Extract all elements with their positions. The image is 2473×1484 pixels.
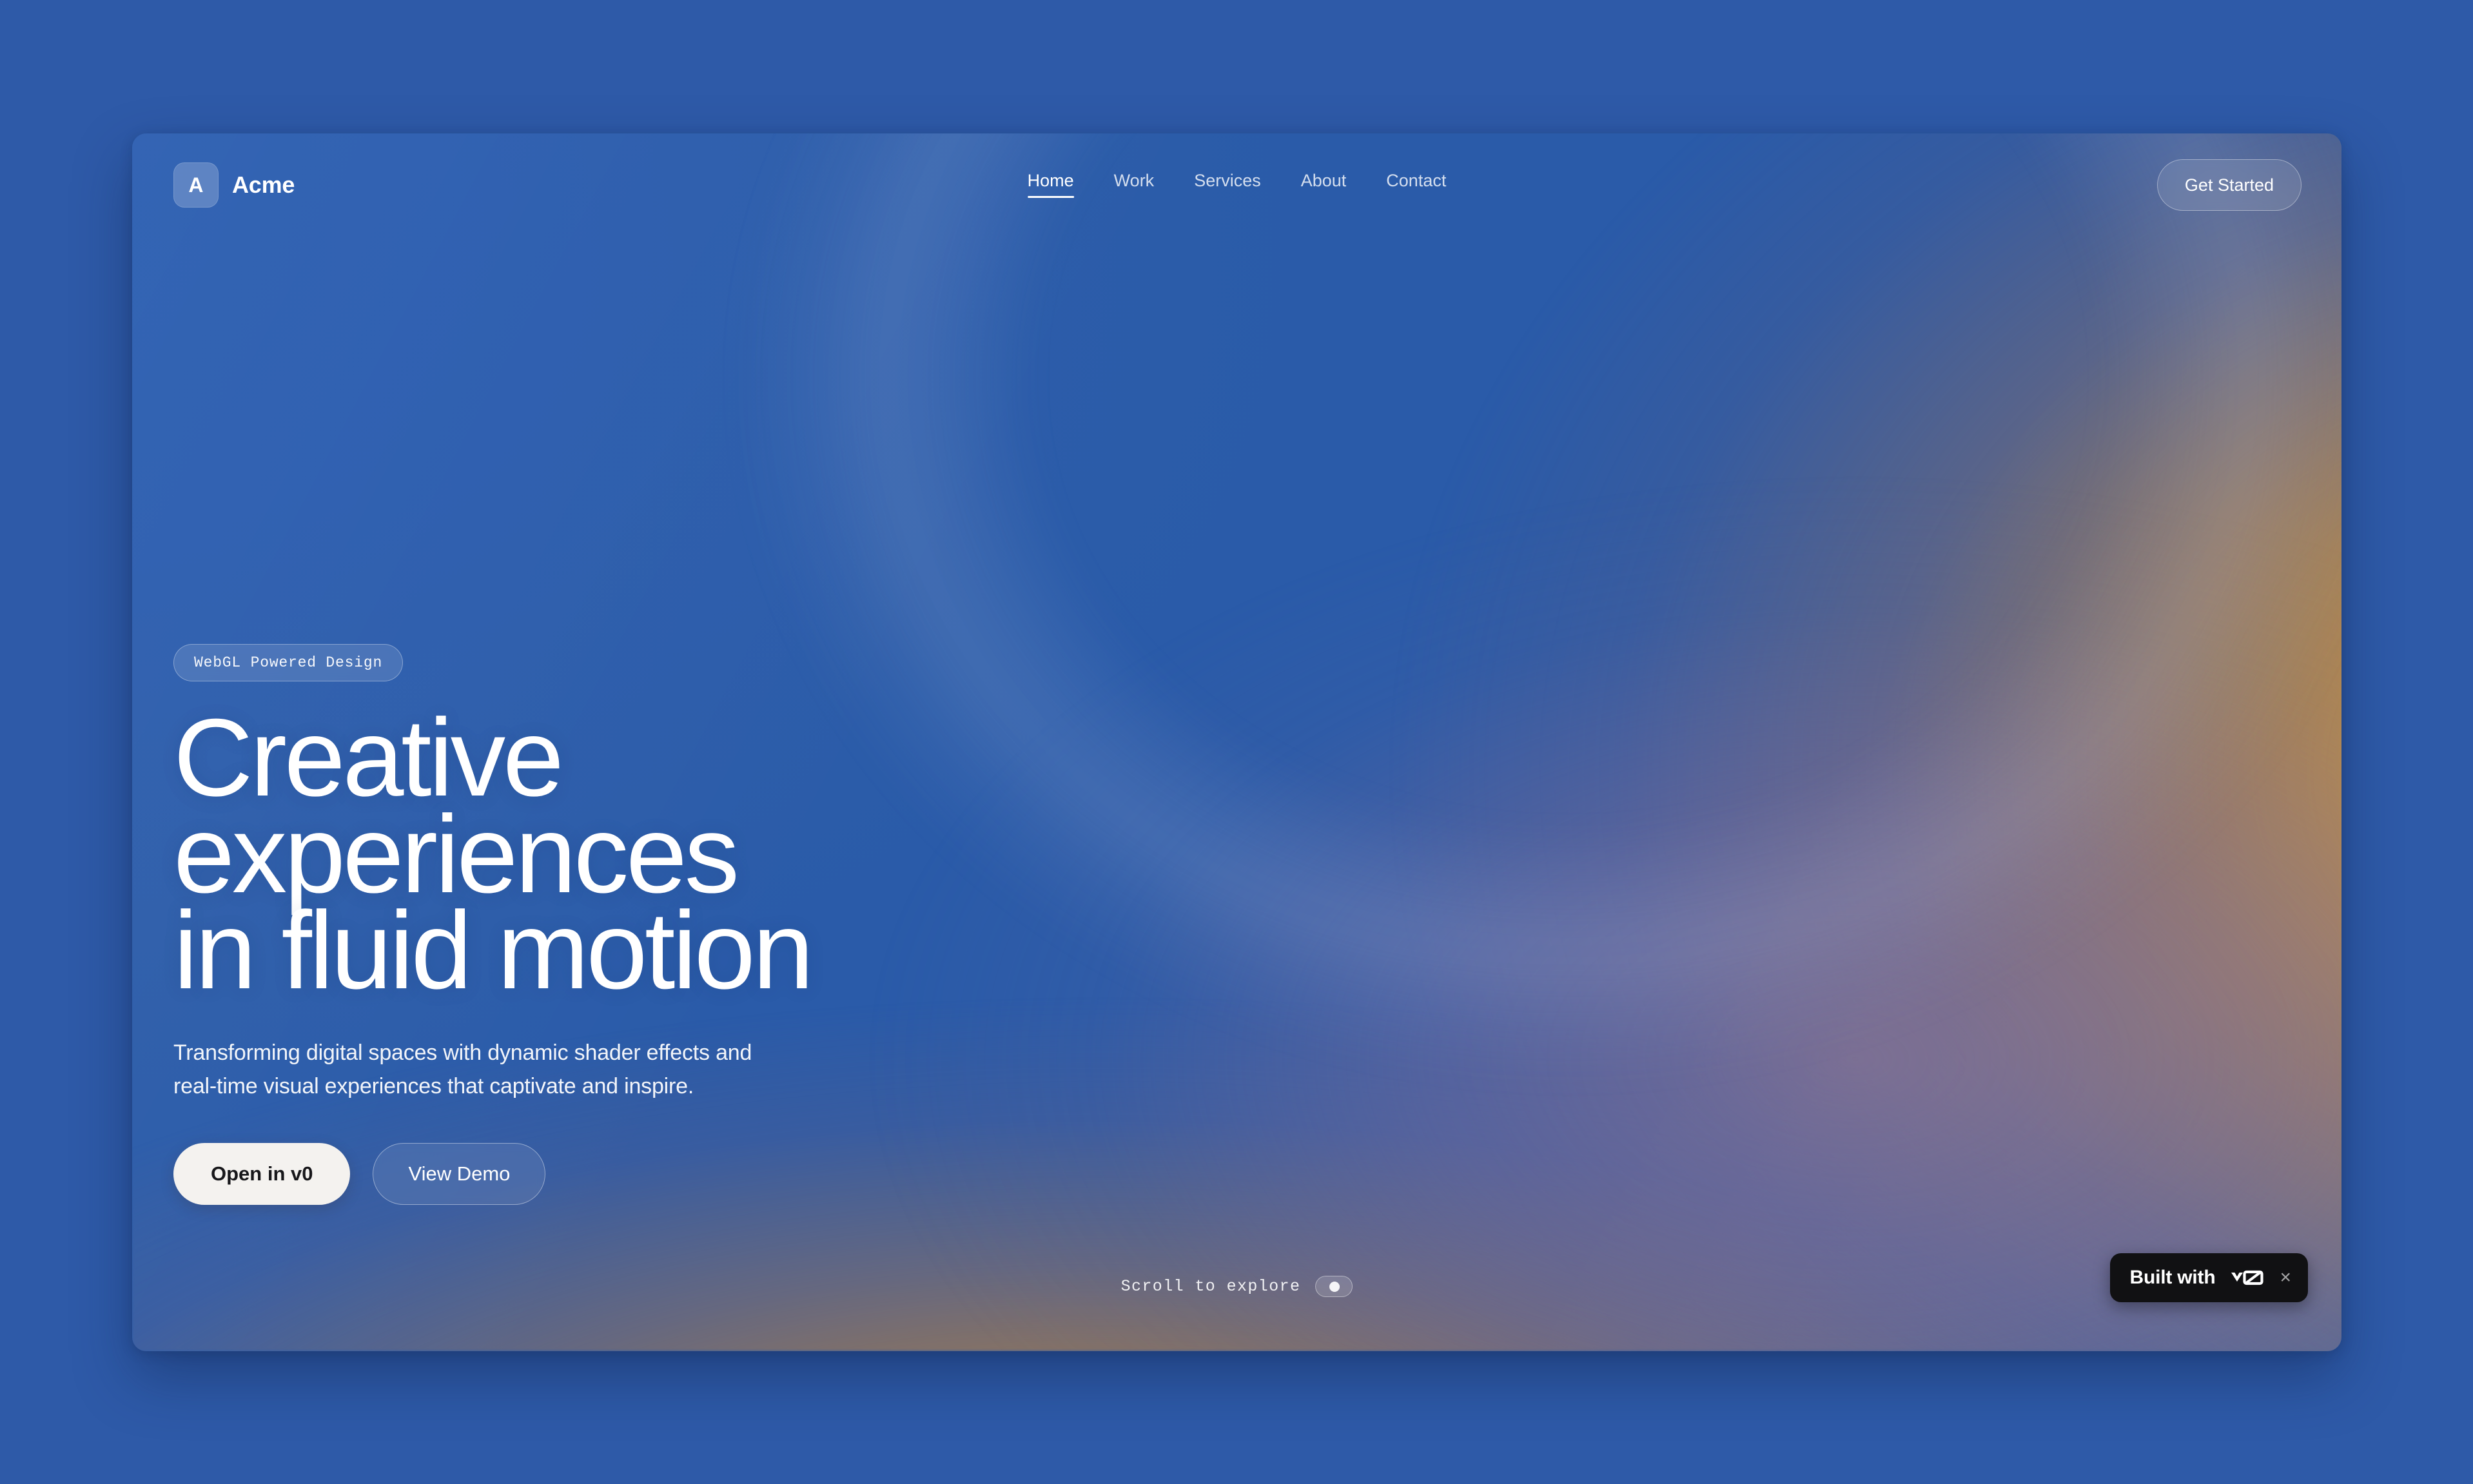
nav-item-contact[interactable]: Contact [1386,172,1446,198]
v0-logo-icon [2231,1268,2264,1287]
view-demo-button[interactable]: View Demo [373,1143,545,1205]
hero-content: WebGL Powered Design Creative experience… [173,644,811,1205]
open-in-v0-button[interactable]: Open in v0 [173,1143,350,1205]
brand-name: Acme [232,171,295,199]
headline-line-3: in fluid motion [173,903,811,999]
headline-line-1: Creative [173,710,811,806]
scroll-indicator[interactable]: Scroll to explore [1121,1276,1353,1297]
subtitle-line-1: Transforming digital spaces with dynamic… [173,1037,811,1070]
primary-nav: Home Work Services About Contact [1028,172,1447,198]
site-header: A Acme Home Work Services About Contact … [132,133,2341,237]
hero-cta-row: Open in v0 View Demo [173,1143,811,1205]
nav-item-work[interactable]: Work [1114,172,1155,198]
built-with-label: Built with [2129,1267,2215,1289]
subtitle-line-2: real-time visual experiences that captiv… [173,1070,811,1104]
scroll-indicator-label: Scroll to explore [1121,1277,1301,1296]
brand-monogram-icon: A [173,162,219,208]
nav-item-home[interactable]: Home [1028,172,1074,198]
get-started-button[interactable]: Get Started [2157,159,2302,211]
page-root: A Acme Home Work Services About Contact … [0,0,2473,1484]
brand-logo[interactable]: A Acme [173,162,295,208]
hero-badge: WebGL Powered Design [173,644,403,681]
nav-item-about[interactable]: About [1301,172,1347,198]
hero-canvas: A Acme Home Work Services About Contact … [132,133,2341,1351]
hero-headline: Creative experiences in fluid motion [173,710,811,999]
hero-subtitle: Transforming digital spaces with dynamic… [173,1037,811,1103]
scroll-indicator-dot [1329,1282,1340,1292]
nav-item-services[interactable]: Services [1194,172,1261,198]
close-icon[interactable]: × [2280,1268,2291,1287]
scroll-indicator-track[interactable] [1315,1276,1353,1297]
headline-line-2: experiences [173,806,811,903]
built-with-v0-badge[interactable]: Built with × [2110,1253,2308,1302]
